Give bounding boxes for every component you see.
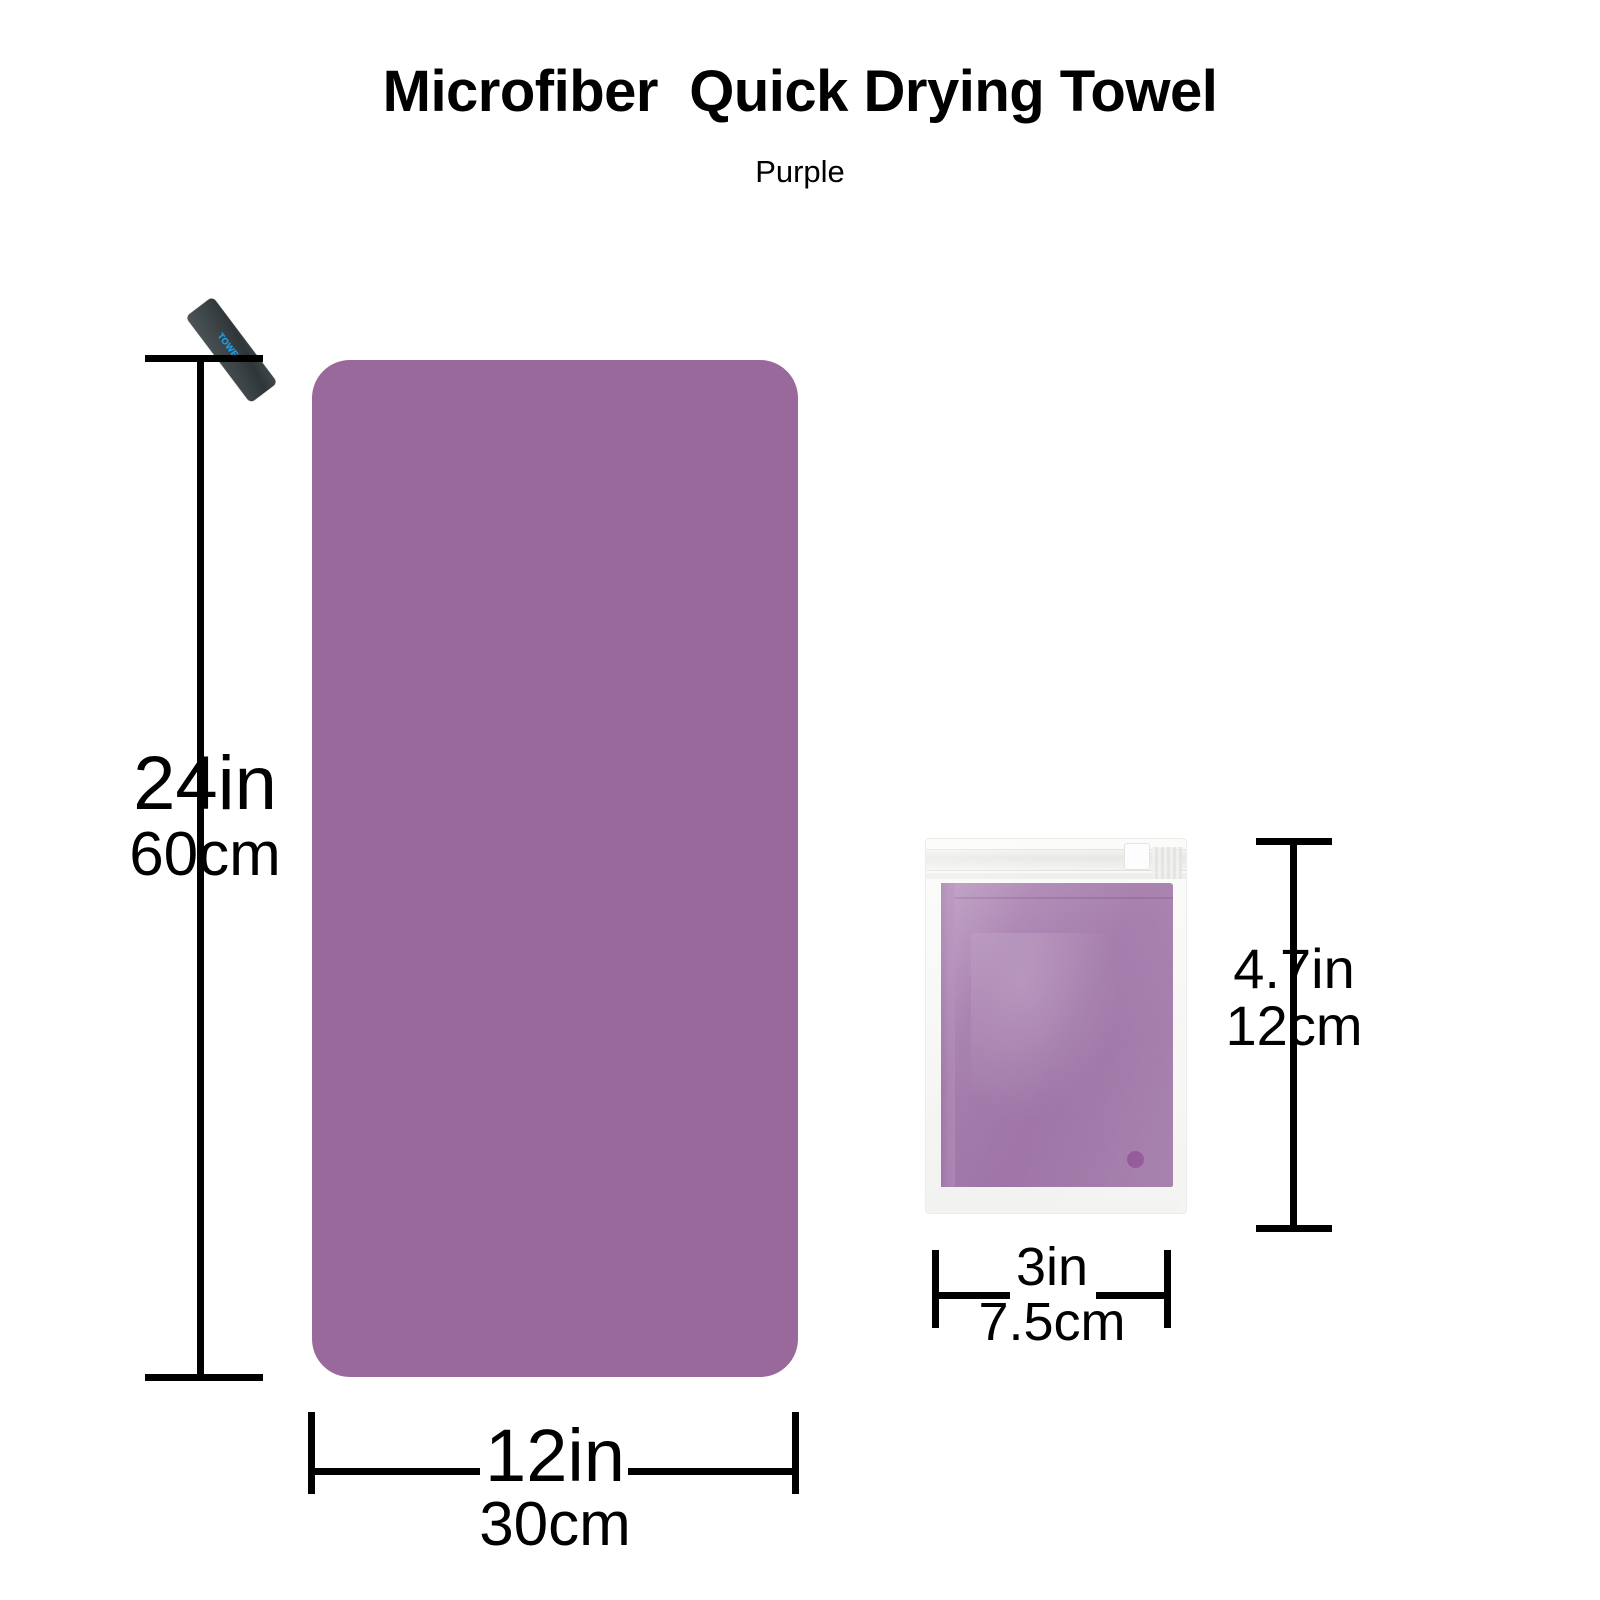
bag-height-top-cap xyxy=(1256,838,1332,845)
towel-height-bottom-cap xyxy=(145,1374,263,1381)
towel-width-label: 12in 30cm xyxy=(390,1418,720,1557)
towel-height-imperial: 24in xyxy=(120,745,290,823)
page-title: Microfiber Quick Drying Towel xyxy=(0,62,1600,123)
folded-towel-seam xyxy=(955,897,1173,899)
bag-height-imperial: 4.7in xyxy=(1206,940,1382,997)
towel-width-left-cap xyxy=(308,1412,315,1494)
bag-height-bottom-cap xyxy=(1256,1225,1332,1232)
towel-width-imperial: 12in xyxy=(390,1418,720,1493)
bag-width-left-cap xyxy=(932,1250,939,1328)
bag-zip-grip-texture xyxy=(1152,847,1182,879)
bag-width-right-cap xyxy=(1164,1250,1171,1328)
product-dimension-infographic: Microfiber Quick Drying Towel Purple TOW… xyxy=(0,0,1600,1600)
bag-height-label: 4.7in 12cm xyxy=(1206,940,1382,1054)
folded-towel-inside-bag xyxy=(941,883,1173,1187)
bag-width-label: 3in 7.5cm xyxy=(950,1240,1154,1350)
towel-height-metric: 60cm xyxy=(120,823,290,886)
towel-product-image xyxy=(312,360,798,1377)
folded-towel-snap-dot xyxy=(1127,1151,1144,1168)
packaged-towel-bag-image xyxy=(925,838,1187,1214)
towel-width-metric: 30cm xyxy=(390,1493,720,1556)
towel-height-top-cap xyxy=(145,355,263,362)
bag-width-metric: 7.5cm xyxy=(950,1295,1154,1350)
page-subtitle-color: Purple xyxy=(0,155,1600,189)
towel-width-right-cap xyxy=(792,1412,799,1494)
folded-towel-sheen xyxy=(971,933,1121,1123)
bag-zip-slider-icon xyxy=(1124,843,1150,870)
bag-width-imperial: 3in xyxy=(950,1240,1154,1295)
bag-zip-seal-band-secondary xyxy=(926,873,1186,879)
bag-height-metric: 12cm xyxy=(1206,997,1382,1054)
towel-height-label: 24in 60cm xyxy=(120,745,290,886)
folded-towel-edge xyxy=(941,883,955,1187)
